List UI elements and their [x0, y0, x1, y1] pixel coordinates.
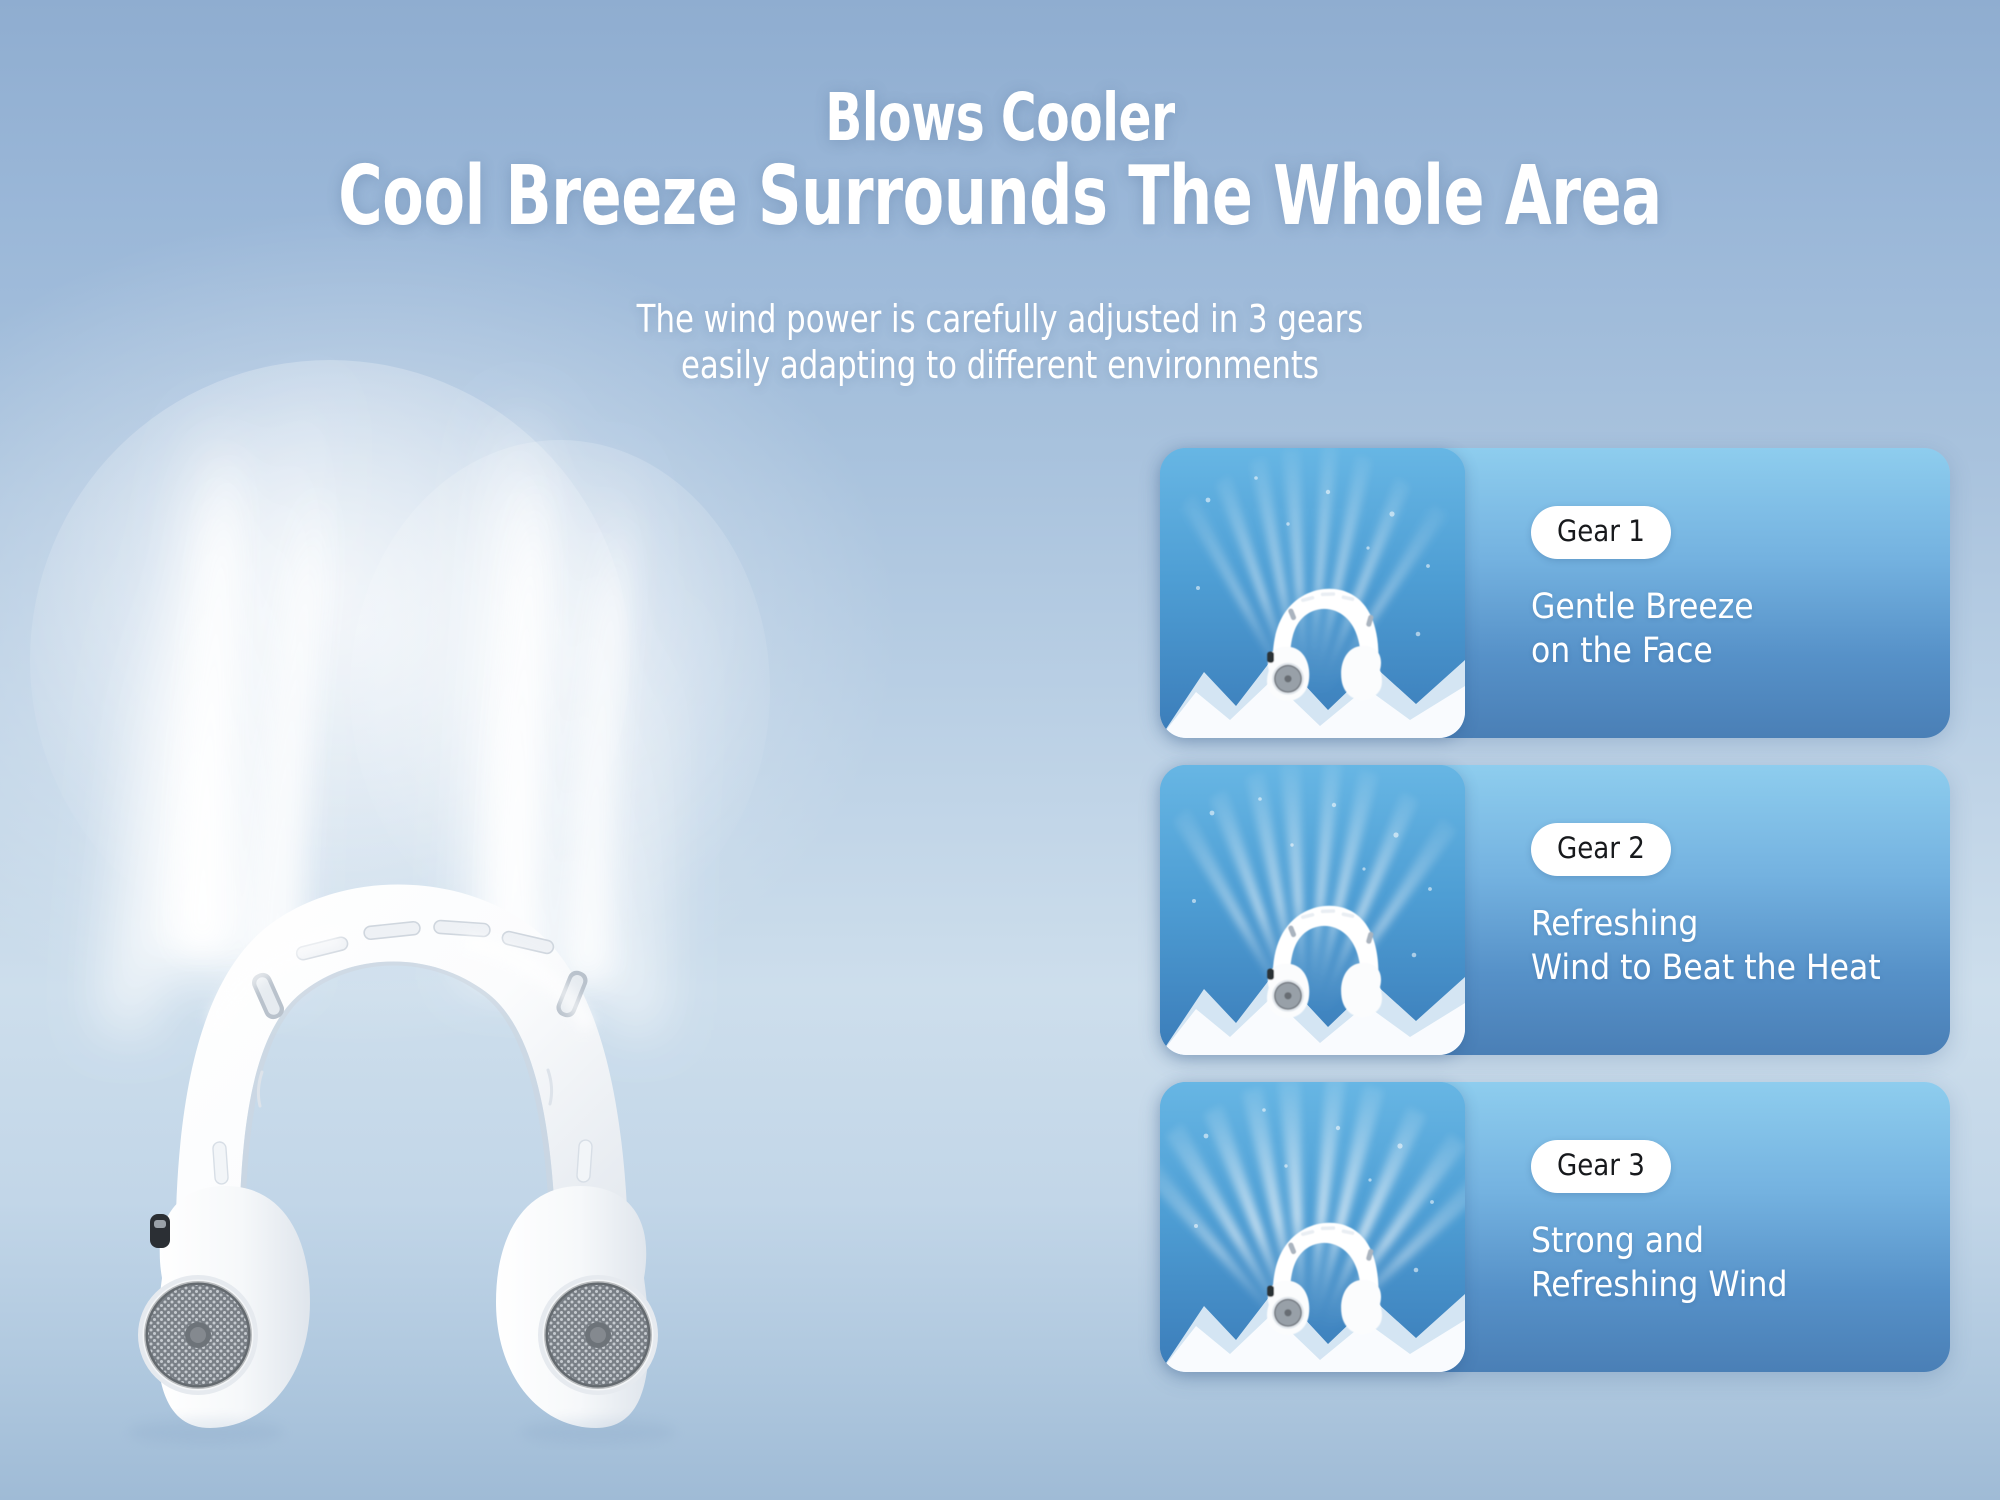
gear-1-desc-line-2: on the Face — [1531, 629, 1950, 673]
gear-1-description: Gentle Breeze on the Face — [1531, 585, 1950, 673]
gear-3-badge: Gear 3 — [1531, 1140, 1671, 1193]
headline-line-2: Cool Breeze Surrounds The Whole Area — [180, 157, 1820, 237]
gear-card-1[interactable]: Gear 1 Gentle Breeze on the Face — [1160, 448, 1950, 738]
gear-3-desc-line-1: Strong and — [1531, 1219, 1950, 1263]
gear-2-body: Gear 2 Refreshing Wind to Beat the Heat — [1465, 765, 1950, 1055]
gear-1-thumbnail — [1160, 448, 1465, 738]
gear-2-thumbnail — [1160, 765, 1465, 1055]
gear-card-list: Gear 1 Gentle Breeze on the Face — [1160, 448, 1950, 1399]
page-title: Blows Cooler Cool Breeze Surrounds The W… — [0, 86, 2000, 237]
gear-2-desc-line-1: Refreshing — [1531, 902, 1950, 946]
gear-2-desc-line-2: Wind to Beat the Heat — [1531, 946, 1950, 990]
gear-card-3[interactable]: Gear 3 Strong and Refreshing Wind — [1160, 1082, 1950, 1372]
gear-2-description: Refreshing Wind to Beat the Heat — [1531, 902, 1950, 990]
gear-3-description: Strong and Refreshing Wind — [1531, 1219, 1950, 1307]
gear-3-desc-line-2: Refreshing Wind — [1531, 1263, 1950, 1307]
gear-1-desc-line-1: Gentle Breeze — [1531, 585, 1950, 629]
hero-product-image — [0, 330, 870, 1450]
gear-3-thumbnail — [1160, 1082, 1465, 1372]
gear-1-body: Gear 1 Gentle Breeze on the Face — [1465, 448, 1950, 738]
headline-line-1: Blows Cooler — [180, 86, 1820, 151]
gear-1-badge: Gear 1 — [1531, 506, 1671, 559]
gear-3-body: Gear 3 Strong and Refreshing Wind — [1465, 1082, 1950, 1372]
gear-card-2[interactable]: Gear 2 Refreshing Wind to Beat the Heat — [1160, 765, 1950, 1055]
promo-banner: Blows Cooler Cool Breeze Surrounds The W… — [0, 0, 2000, 1500]
gear-2-badge: Gear 2 — [1531, 823, 1671, 876]
